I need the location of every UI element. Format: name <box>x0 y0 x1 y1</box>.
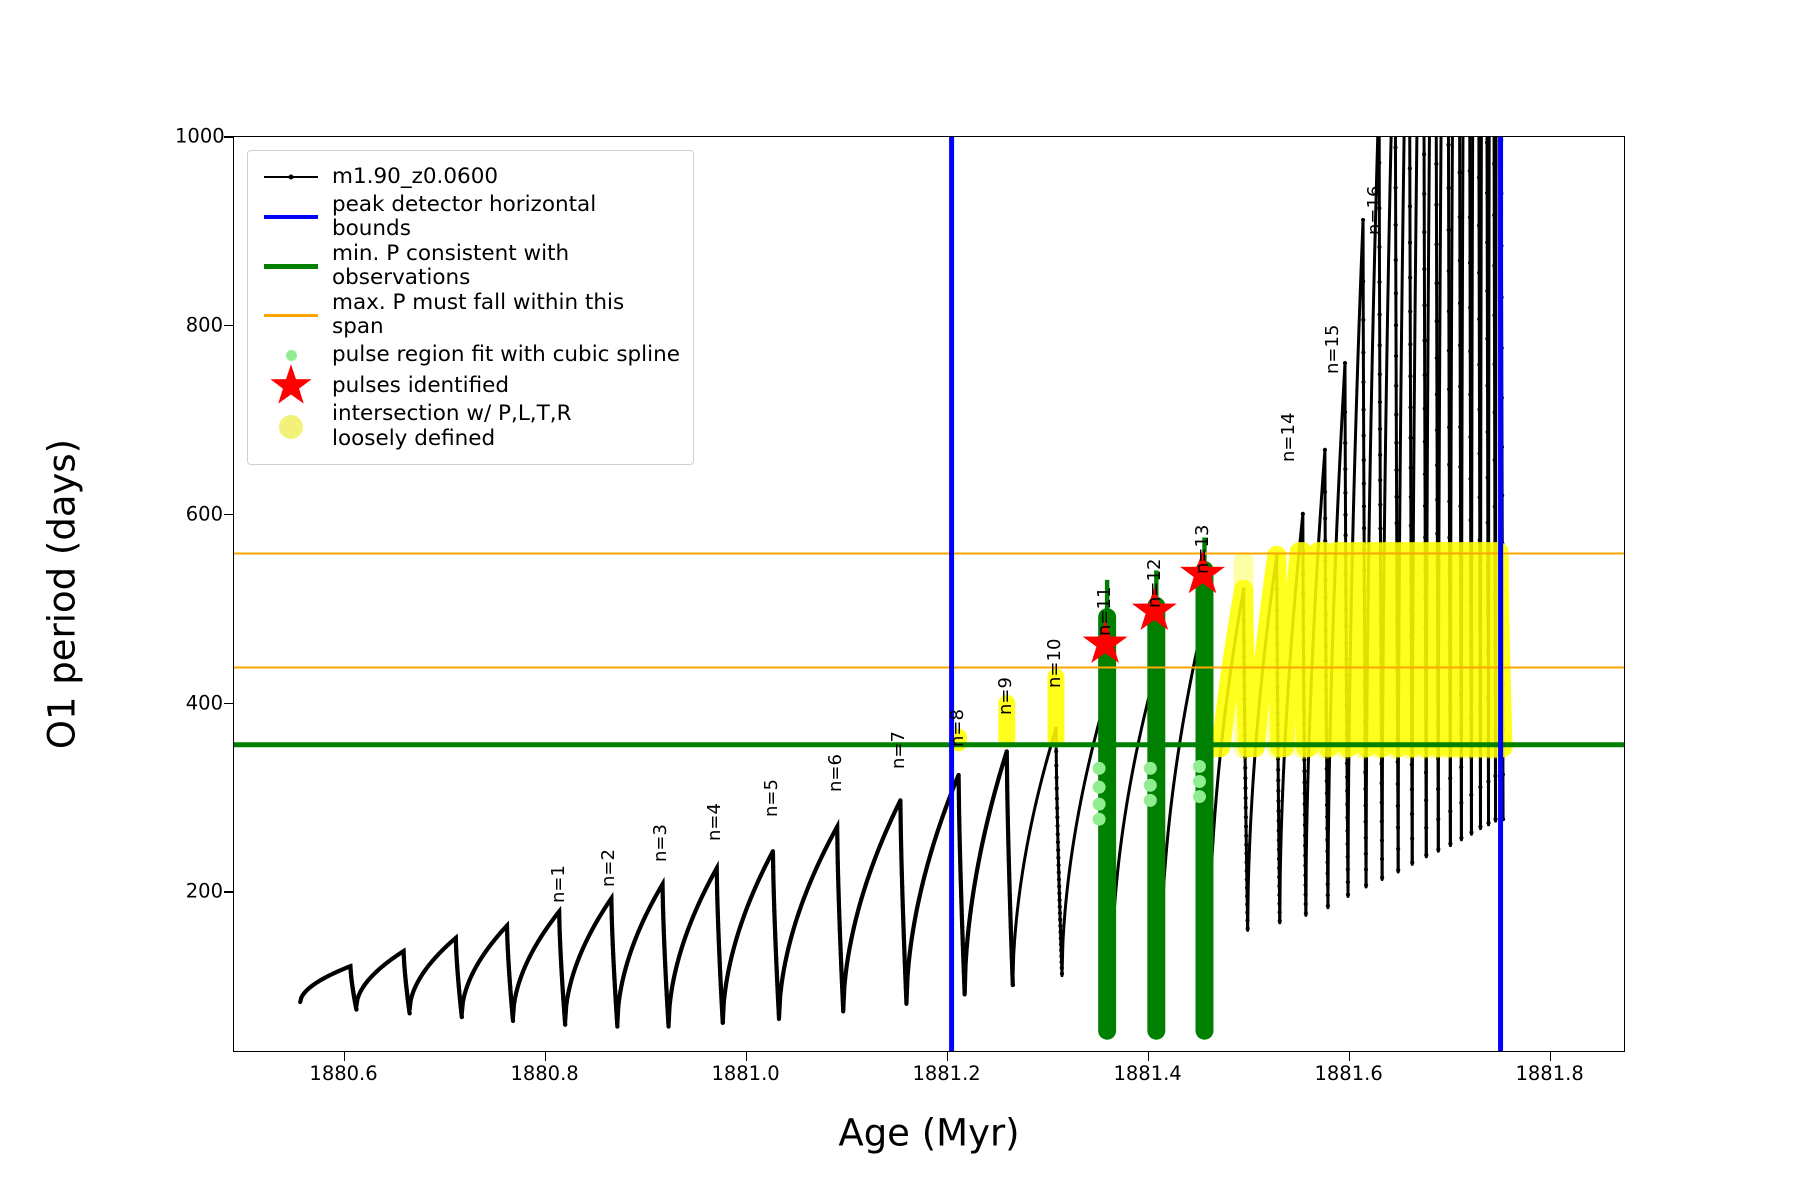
y-tick-label: 800 <box>175 313 223 336</box>
y-tick-label: 200 <box>175 880 223 903</box>
pulse-label: n=16 <box>1364 186 1385 235</box>
x-tick-label: 1880.6 <box>309 1062 377 1085</box>
legend-item-label: intersection w/ P,L,T,R loosely defined <box>332 402 572 450</box>
pulse-label: n=5 <box>761 779 782 817</box>
legend-item[interactable]: peak detector horizontal bounds <box>260 193 681 241</box>
y-tick-label: 1000 <box>175 125 223 148</box>
x-tick-mark <box>344 1052 346 1061</box>
y-tick-mark <box>224 325 233 327</box>
legend-item[interactable]: intersection w/ P,L,T,R loosely defined <box>260 402 681 450</box>
pulse-label: n=7 <box>888 731 909 769</box>
figure-root: O1 period (days) Age (Myr) 2004006008001… <box>0 0 1800 1200</box>
y-tick-label: 400 <box>175 691 223 714</box>
line-marker-icon <box>260 163 322 191</box>
x-axis-title: Age (Myr) <box>838 1112 1019 1155</box>
star-glyph <box>266 363 316 409</box>
x-tick-mark <box>746 1052 748 1061</box>
x-tick-label: 1881.2 <box>912 1062 980 1085</box>
pulse-label: n=15 <box>1322 325 1343 374</box>
legend-item-label: min. P consistent with observations <box>332 242 681 290</box>
pulse-label: n=9 <box>995 677 1016 715</box>
pulse-label: n=2 <box>598 849 619 887</box>
thick-line-icon <box>260 252 322 280</box>
y-tick-mark <box>224 891 233 893</box>
pulse-label: n=8 <box>947 709 968 747</box>
legend-item[interactable]: min. P consistent with observations <box>260 242 681 290</box>
legend-item[interactable]: max. P must fall within this span <box>260 291 681 339</box>
x-tick-label: 1881.8 <box>1515 1062 1583 1085</box>
x-tick-label: 1881.0 <box>711 1062 779 1085</box>
yellow-intersection-layer <box>950 552 1509 759</box>
legend-item[interactable]: m1.90_z0.0600 <box>260 162 681 192</box>
y-tick-mark <box>224 514 233 516</box>
yellow-dot-icon <box>260 413 322 441</box>
x-tick-label: 1880.8 <box>510 1062 578 1085</box>
legend-item-label: m1.90_z0.0600 <box>332 165 498 189</box>
x-tick-mark <box>1148 1052 1150 1061</box>
pulse-label: n=4 <box>704 803 725 841</box>
pulse-label: n=10 <box>1044 639 1065 688</box>
pulse-label: n=12 <box>1144 559 1165 608</box>
legend-item-label: peak detector horizontal bounds <box>332 193 681 241</box>
x-tick-mark <box>947 1052 949 1061</box>
y-tick-mark <box>224 703 233 705</box>
legend-item[interactable]: pulse region fit with cubic spline <box>260 340 681 370</box>
legend: m1.90_z0.0600peak detector horizontal bo… <box>247 150 694 465</box>
pulse-label: n=14 <box>1278 412 1299 461</box>
pulse-label: n=3 <box>650 824 671 862</box>
pulse-label: n=6 <box>825 754 846 792</box>
y-tick-mark <box>224 136 233 138</box>
x-tick-mark <box>545 1052 547 1061</box>
x-tick-mark <box>1550 1052 1552 1061</box>
y-tick-label: 600 <box>175 502 223 525</box>
line-icon <box>260 301 322 329</box>
pulse-label: n=13 <box>1192 525 1213 574</box>
legend-item-label: max. P must fall within this span <box>332 291 681 339</box>
pulse-label: n=1 <box>548 865 569 903</box>
red-star-icon <box>260 372 322 400</box>
thick-line-icon <box>260 203 322 231</box>
legend-item-label: pulses identified <box>332 374 509 398</box>
pulse-label: n=11 <box>1094 587 1115 636</box>
legend-item-label: pulse region fit with cubic spline <box>332 343 680 367</box>
x-tick-label: 1881.4 <box>1113 1062 1181 1085</box>
legend-item[interactable]: pulses identified <box>260 371 681 401</box>
x-tick-label: 1881.6 <box>1314 1062 1382 1085</box>
x-tick-mark <box>1349 1052 1351 1061</box>
y-axis-title: O1 period (days) <box>41 439 84 749</box>
